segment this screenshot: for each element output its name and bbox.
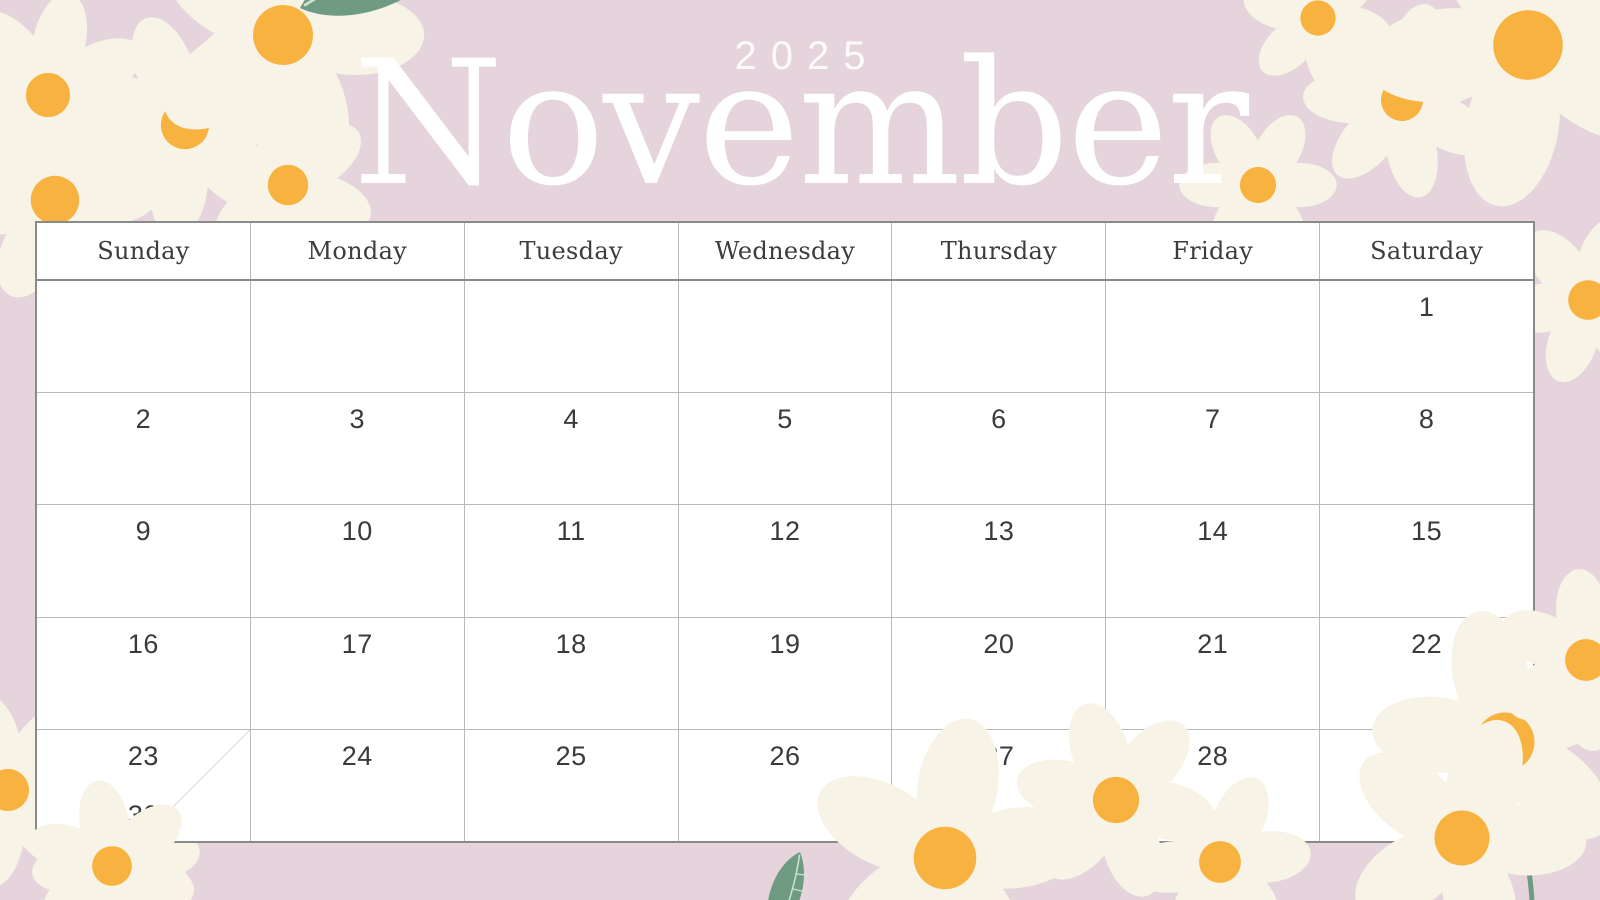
calendar-day-cell[interactable]: 11 <box>465 505 679 616</box>
calendar-date-number: 7 <box>1106 405 1319 435</box>
calendar-day-cell[interactable]: 28 <box>1106 730 1320 841</box>
calendar-day-cell[interactable]: 10 <box>251 505 465 616</box>
calendar-grid: Sunday Monday Tuesday Wednesday Thursday… <box>35 221 1535 843</box>
calendar-date-number-secondary: 30 <box>37 801 250 831</box>
calendar-date-number: 6 <box>892 405 1105 435</box>
calendar-week-row: 1 <box>37 281 1533 393</box>
calendar-day-cell[interactable]: 4 <box>465 393 679 504</box>
calendar-date-number: 16 <box>37 630 250 660</box>
calendar-date-number: 21 <box>1106 630 1319 660</box>
calendar-date-number: 3 <box>251 405 464 435</box>
calendar-day-cell[interactable]: 2 <box>37 393 251 504</box>
calendar-date-number: 19 <box>679 630 892 660</box>
day-of-week-monday: Monday <box>251 223 465 279</box>
calendar-date-number: 11 <box>465 517 678 547</box>
calendar-date-number: 18 <box>465 630 678 660</box>
calendar-date-number: 29 <box>1320 742 1533 772</box>
calendar-weeks: 1234567891011121314151617181920212223302… <box>37 281 1533 841</box>
calendar-date-number: 14 <box>1106 517 1319 547</box>
calendar-day-cell[interactable]: 5 <box>679 393 893 504</box>
calendar-date-number: 2 <box>37 405 250 435</box>
calendar-date-number: 5 <box>679 405 892 435</box>
calendar-page: 2025 November Sunday Monday Tuesday Wedn… <box>0 0 1600 900</box>
calendar-day-cell[interactable]: 20 <box>892 618 1106 729</box>
calendar-day-cell[interactable]: 12 <box>679 505 893 616</box>
calendar-day-cell[interactable]: 3 <box>251 393 465 504</box>
calendar-date-number: 4 <box>465 405 678 435</box>
calendar-day-cell-empty[interactable] <box>892 281 1106 392</box>
calendar-day-cell-empty[interactable] <box>465 281 679 392</box>
calendar-day-cell-empty[interactable] <box>37 281 251 392</box>
calendar-date-number: 27 <box>892 742 1105 772</box>
day-of-week-wednesday: Wednesday <box>679 223 893 279</box>
calendar-date-number: 15 <box>1320 517 1533 547</box>
calendar-day-cell[interactable]: 7 <box>1106 393 1320 504</box>
calendar-date-number: 10 <box>251 517 464 547</box>
calendar-day-cell[interactable]: 13 <box>892 505 1106 616</box>
calendar-date-number: 12 <box>679 517 892 547</box>
month-title: November <box>0 34 1600 215</box>
day-of-week-saturday: Saturday <box>1320 223 1533 279</box>
calendar-day-cell[interactable]: 18 <box>465 618 679 729</box>
calendar-date-number: 20 <box>892 630 1105 660</box>
calendar-day-cell-empty[interactable] <box>679 281 893 392</box>
calendar-week-row: 16171819202122 <box>37 618 1533 730</box>
calendar-day-cell[interactable]: 19 <box>679 618 893 729</box>
calendar-date-number: 9 <box>37 517 250 547</box>
calendar-date-number: 17 <box>251 630 464 660</box>
day-of-week-sunday: Sunday <box>37 223 251 279</box>
calendar-day-cell[interactable]: 15 <box>1320 505 1533 616</box>
calendar-day-cell[interactable]: 6 <box>892 393 1106 504</box>
calendar-date-number: 1 <box>1320 293 1533 323</box>
day-of-week-friday: Friday <box>1106 223 1320 279</box>
calendar-day-cell[interactable]: 25 <box>465 730 679 841</box>
calendar-day-cell-empty[interactable] <box>1106 281 1320 392</box>
calendar-day-cell[interactable]: 29 <box>1320 730 1533 841</box>
calendar-day-cell[interactable]: 22 <box>1320 618 1533 729</box>
leaf-icon <box>750 848 822 900</box>
calendar-week-row: 2345678 <box>37 393 1533 505</box>
day-of-week-thursday: Thursday <box>892 223 1106 279</box>
calendar-header: 2025 November <box>0 0 1600 220</box>
day-of-week-header-row: Sunday Monday Tuesday Wednesday Thursday… <box>37 223 1533 281</box>
calendar-date-number: 24 <box>251 742 464 772</box>
calendar-date-number: 22 <box>1320 630 1533 660</box>
calendar-date-number: 23 <box>37 742 250 772</box>
calendar-day-cell[interactable]: 27 <box>892 730 1106 841</box>
calendar-week-row: 9101112131415 <box>37 505 1533 617</box>
calendar-date-number: 26 <box>679 742 892 772</box>
day-of-week-tuesday: Tuesday <box>465 223 679 279</box>
calendar-date-number: 13 <box>892 517 1105 547</box>
calendar-day-cell-split[interactable]: 2330 <box>37 730 251 841</box>
calendar-day-cell[interactable]: 24 <box>251 730 465 841</box>
calendar-week-row: 2330242526272829 <box>37 730 1533 841</box>
calendar-day-cell[interactable]: 26 <box>679 730 893 841</box>
calendar-date-number: 8 <box>1320 405 1533 435</box>
calendar-day-cell[interactable]: 17 <box>251 618 465 729</box>
calendar-day-cell[interactable]: 21 <box>1106 618 1320 729</box>
calendar-day-cell[interactable]: 9 <box>37 505 251 616</box>
calendar-day-cell[interactable]: 16 <box>37 618 251 729</box>
calendar-day-cell[interactable]: 14 <box>1106 505 1320 616</box>
calendar-day-cell-empty[interactable] <box>251 281 465 392</box>
calendar-date-number: 25 <box>465 742 678 772</box>
calendar-date-number: 28 <box>1106 742 1319 772</box>
calendar-day-cell[interactable]: 8 <box>1320 393 1533 504</box>
calendar-day-cell[interactable]: 1 <box>1320 281 1533 392</box>
